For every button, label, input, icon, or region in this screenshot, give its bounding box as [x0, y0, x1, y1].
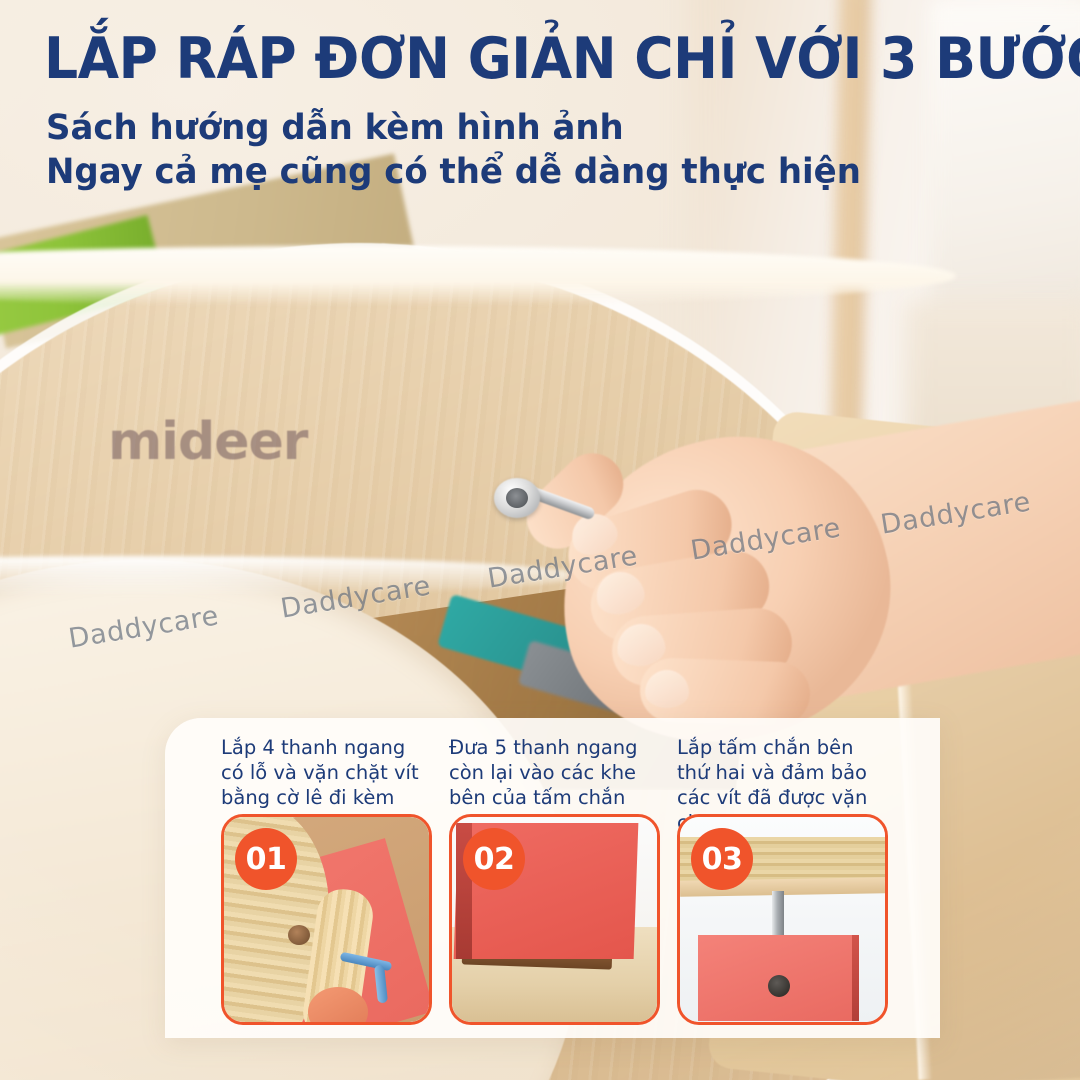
- page-title: LẮP RÁP ĐƠN GIẢN CHỈ VỚI 3 BƯỚC: [44, 30, 1080, 90]
- assembly-steps-card: Lắp 4 thanh ngang có lỗ và vặn chặt vít …: [165, 718, 940, 1038]
- screw-head: [506, 488, 528, 508]
- step-badge-1: 01: [235, 828, 297, 890]
- step-thumbnail-1[interactable]: 01: [221, 814, 432, 1025]
- step-caption-1: Lắp 4 thanh ngang có lỗ và vặn chặt vít …: [221, 736, 431, 814]
- fingernail: [645, 670, 689, 708]
- subtitle-line-2: Ngay cả mẹ cũng có thể dễ dàng thực hiện: [46, 152, 861, 193]
- thumb3-screw-hole: [768, 975, 790, 997]
- step-thumbnail-2[interactable]: 02: [449, 814, 660, 1025]
- step-thumbnail-3[interactable]: 03: [677, 814, 888, 1025]
- step-caption-2: Đưa 5 thanh ngang còn lại vào các khe bê…: [449, 736, 659, 814]
- step-caption-3: Lắp tấm chắn bên thứ hai và đảm bảo các …: [677, 736, 887, 814]
- subtitle-line-1: Sách hướng dẫn kèm hình ảnh: [46, 108, 624, 149]
- product-infographic: mideer DaddycareDaddycareDaddycareDaddyc…: [0, 0, 1080, 1080]
- step-item-3: Lắp tấm chắn bên thứ hai và đảm bảo các …: [677, 736, 887, 1038]
- step-badge-2: 02: [463, 828, 525, 890]
- step-item-1: Lắp 4 thanh ngang có lỗ và vặn chặt vít …: [221, 736, 431, 1038]
- mideer-brand-logo: mideer: [108, 412, 307, 472]
- step-item-2: Đưa 5 thanh ngang còn lại vào các khe bê…: [449, 736, 659, 1038]
- step-badge-3: 03: [691, 828, 753, 890]
- thumb1-screw-hole: [288, 925, 310, 945]
- thumb3-red-panel-edge: [852, 935, 859, 1021]
